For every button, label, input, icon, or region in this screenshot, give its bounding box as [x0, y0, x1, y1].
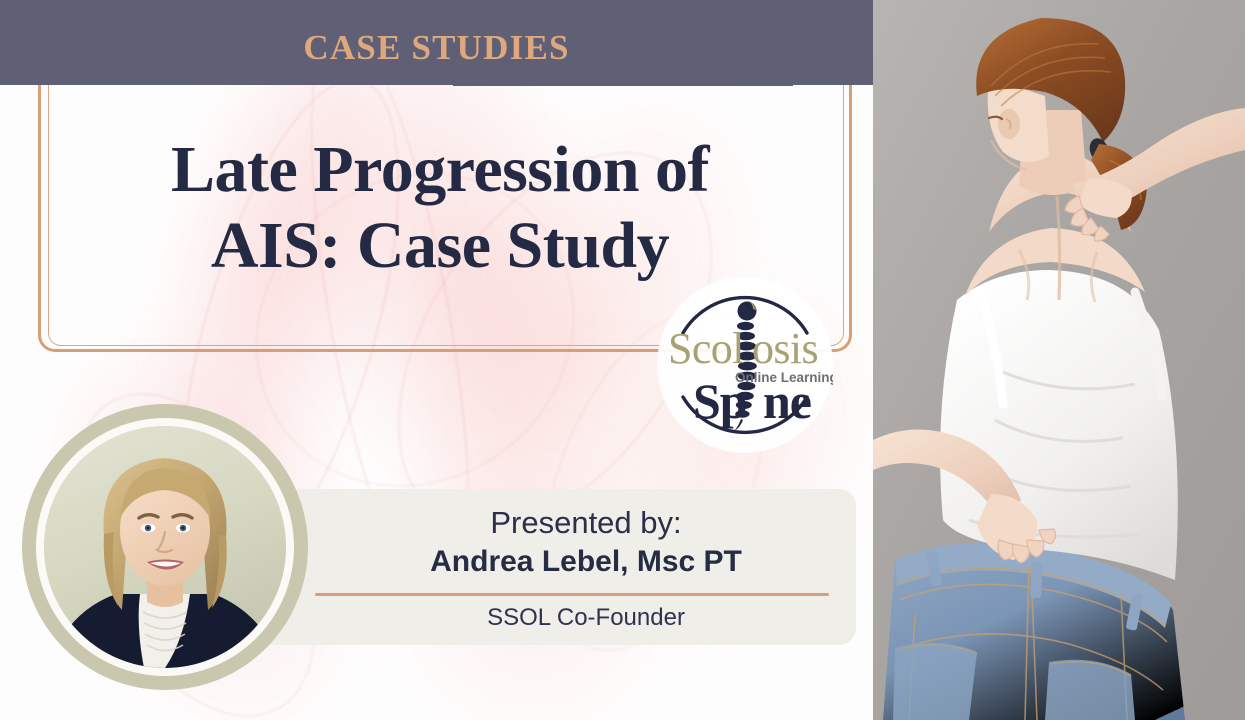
svg-text:Sp: Sp [693, 373, 747, 429]
scoliosis-spine-logo: Scol osis Online Learning Sp ne [657, 277, 833, 453]
presenter-name: Andrea Lebel, Msc PT [316, 543, 856, 581]
presenter-divider [315, 593, 829, 596]
slide-content-panel: CASE STUDIES Late Progression of AIS: Ca… [0, 0, 873, 720]
stock-photo-panel [873, 0, 1245, 720]
slide-eyebrow-label: CASE STUDIES [0, 29, 873, 67]
back-pain-photo [873, 0, 1245, 720]
presenter-avatar-ring [22, 404, 308, 690]
avatar [44, 426, 286, 668]
slide-title-line-1: Late Progression of [60, 132, 820, 208]
presenter-role: SSOL Co-Founder [316, 602, 856, 634]
slide-title: Late Progression of AIS: Case Study [60, 132, 820, 284]
svg-text:ne: ne [763, 373, 811, 429]
svg-text:Scol: Scol [668, 324, 744, 373]
svg-text:osis: osis [752, 324, 818, 373]
presented-by-label: Presented by: [316, 504, 856, 542]
logo-artwork: Scol osis Online Learning Sp ne [657, 277, 833, 453]
slide-title-line-2: AIS: Case Study [60, 208, 820, 284]
presenter-portrait [44, 426, 286, 668]
presentation-slide: CASE STUDIES Late Progression of AIS: Ca… [0, 0, 1245, 720]
